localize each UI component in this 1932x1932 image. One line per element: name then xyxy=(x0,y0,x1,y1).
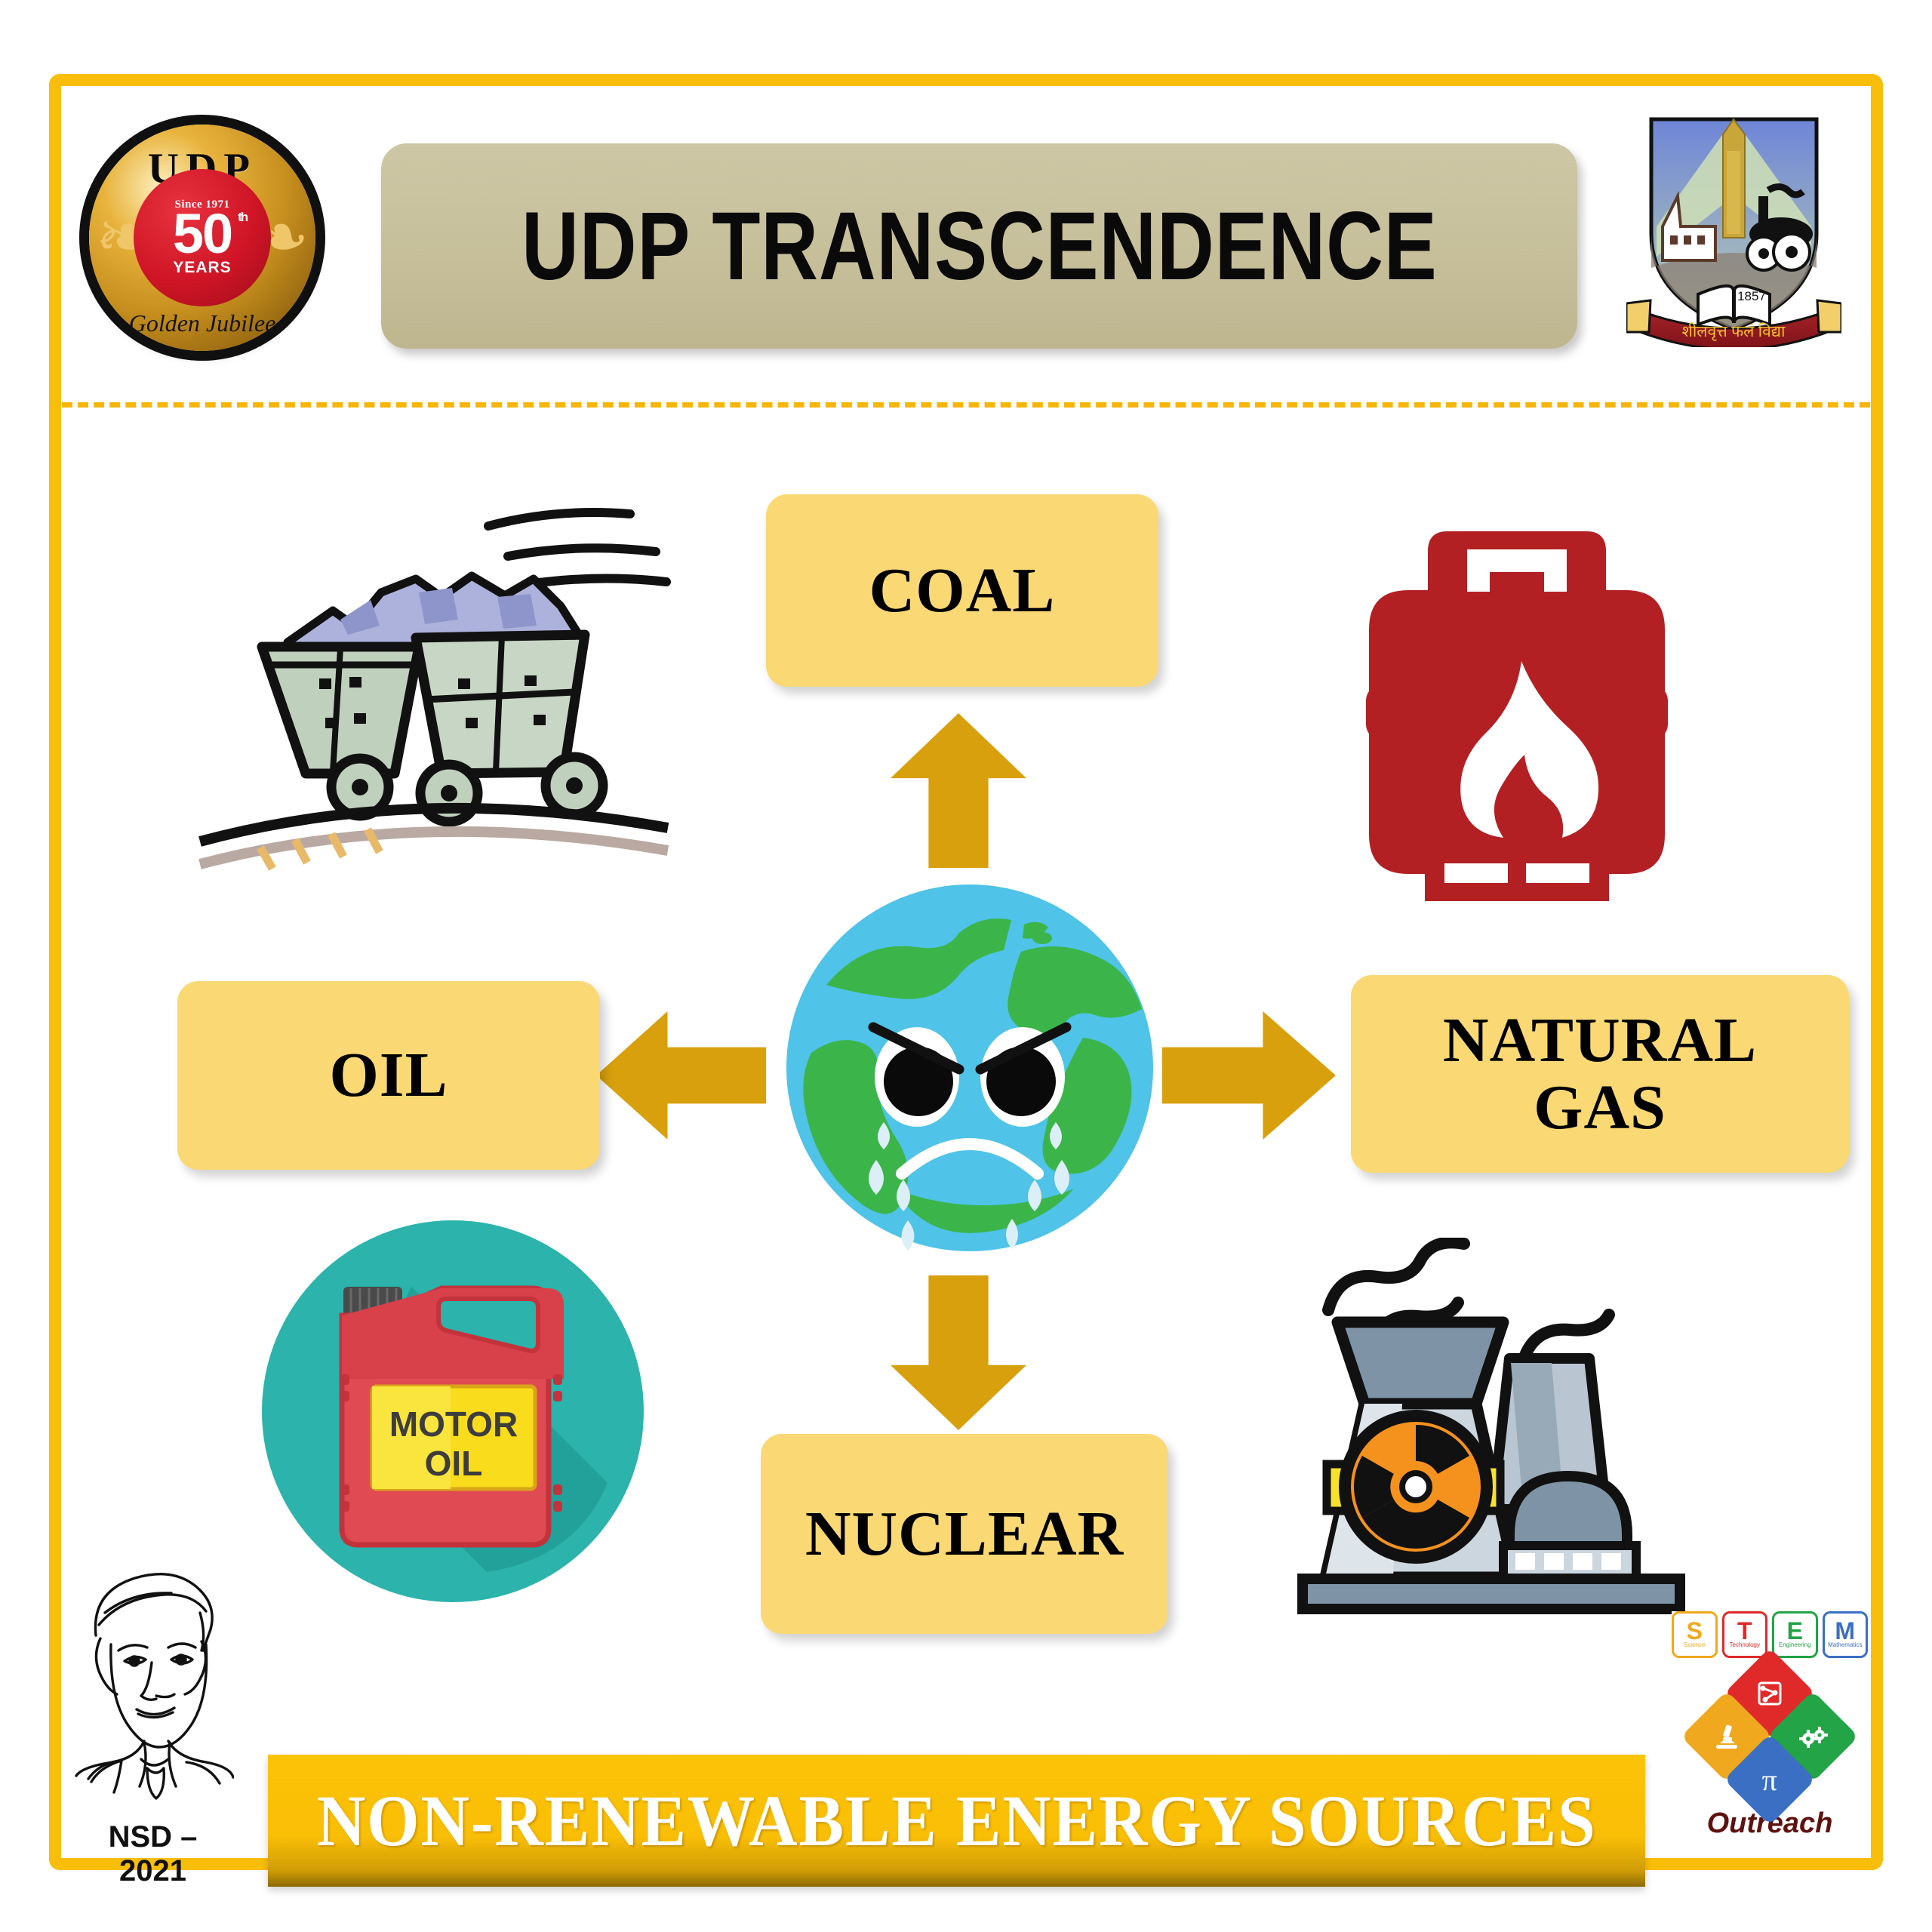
udp-golden-jubilee-logo: UDP ❧ ❧ Since 1971 50 th YEARS Golden Ju… xyxy=(89,125,315,351)
stem-diamond-cluster: π xyxy=(1694,1661,1845,1812)
label-oil[interactable]: OIL xyxy=(177,981,600,1170)
page-title-banner: UDP TRANSCENDENCE xyxy=(381,143,1577,349)
nuclear-power-plant-illustration xyxy=(1283,1238,1706,1645)
gas-cylinder-illustration xyxy=(1366,521,1668,913)
stem-tile-letter: T xyxy=(1737,1621,1752,1641)
cv-raman-portrait-icon xyxy=(72,1566,234,1815)
svg-text:1857: 1857 xyxy=(1737,289,1766,303)
stem-tile-letter: M xyxy=(1835,1621,1855,1641)
udp-logo-number-value: 50 xyxy=(173,202,232,265)
stem-tile-word: Engineering xyxy=(1779,1642,1811,1648)
label-natural-gas[interactable]: NATURAL GAS xyxy=(1351,975,1849,1173)
label-coal[interactable]: COAL xyxy=(766,494,1158,687)
stem-tile-technology: T Technology xyxy=(1722,1611,1768,1658)
motor-oil-illustration: MOTOR OIL xyxy=(260,1219,645,1604)
stem-tile-word: Technology xyxy=(1730,1642,1760,1648)
udp-logo-bottom-text: Golden Jubilee xyxy=(89,309,315,337)
stem-tile-science: S Science xyxy=(1672,1611,1718,1658)
stem-tile-mathematics: M Mathematics xyxy=(1823,1611,1869,1658)
footer-banner: NON-RENEWABLE ENERGY SOURCES xyxy=(268,1755,1645,1887)
page-title: UDP TRANSCENDENCE xyxy=(521,191,1437,302)
crying-earth-icon xyxy=(781,879,1158,1257)
svg-text:शीलवृत्त फलं विद्या: शीलवृत्त फलं विद्या xyxy=(1682,322,1786,341)
udp-logo-number: 50 th xyxy=(173,208,232,260)
stem-tile-engineering: E Engineering xyxy=(1772,1611,1818,1658)
stem-outreach-logo: S Science T Technology E Engineering M M… xyxy=(1672,1611,1868,1853)
nsd-year-label: NSD – 2021 xyxy=(72,1820,234,1888)
label-nuclear[interactable]: NUCLEAR xyxy=(761,1434,1168,1634)
stem-tile-letter: S xyxy=(1687,1621,1703,1641)
header-divider xyxy=(62,402,1870,408)
university-crest-icon: 1857 शीलवृत्त फलं विद्या xyxy=(1626,106,1841,347)
motor-oil-label-line1: MOTOR xyxy=(389,1404,518,1444)
footer-banner-text: NON-RENEWABLE ENERGY SOURCES xyxy=(317,1779,1597,1863)
stem-tile-letter: E xyxy=(1787,1621,1803,1641)
stem-tile-word: Mathematics xyxy=(1828,1642,1862,1648)
udp-logo-center: Since 1971 50 th YEARS xyxy=(134,169,271,306)
coal-mine-cart-illustration xyxy=(192,487,675,872)
svg-text:OIL: OIL xyxy=(425,1444,483,1483)
udp-logo-ordinal: th xyxy=(238,211,247,223)
stem-tile-word: Science xyxy=(1684,1642,1705,1648)
pi-glyph: π xyxy=(1762,1761,1777,1797)
